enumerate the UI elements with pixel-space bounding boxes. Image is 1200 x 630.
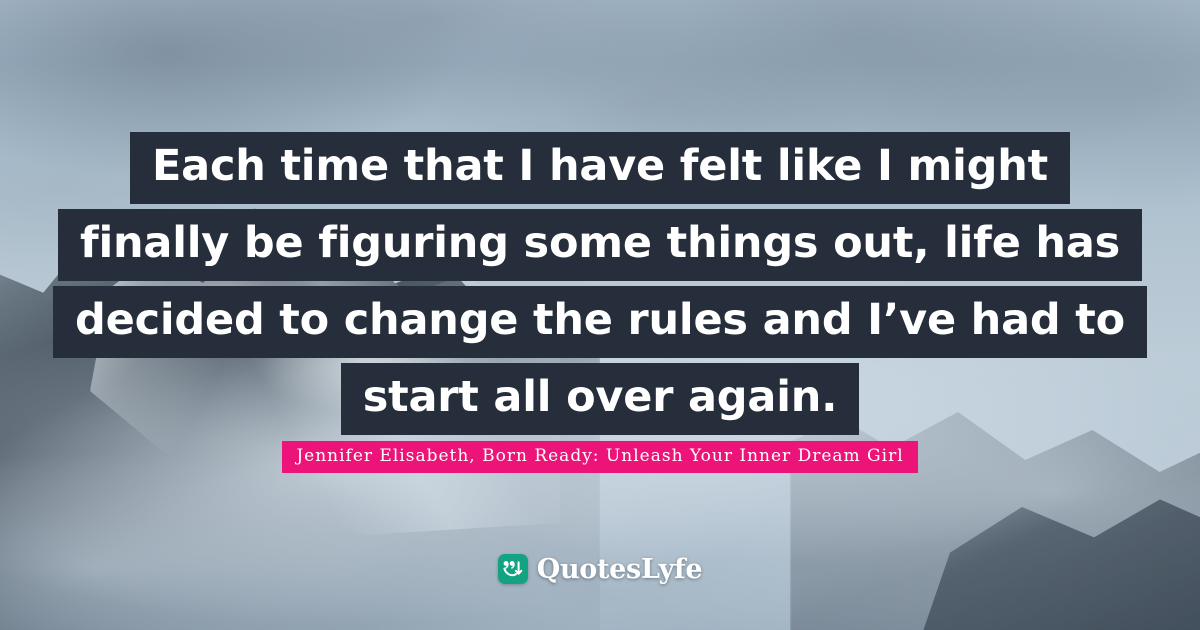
quote-line: decided to change the rules and I’ve had… [53,286,1147,358]
quote-text: Each time that I have felt like I might … [0,132,1200,440]
attribution-label: Jennifer Elisabeth, Born Ready: Unleash … [282,441,917,473]
quote-smiley-icon [498,554,528,584]
quote-line: Each time that I have felt like I might [130,132,1070,204]
quote-card: Each time that I have felt like I might … [0,0,1200,630]
card-content: Each time that I have felt like I might … [0,0,1200,630]
quote-line: start all over again. [341,363,860,435]
attribution-row: Jennifer Elisabeth, Born Ready: Unleash … [0,441,1200,473]
quote-line: finally be figuring some things out, lif… [58,209,1142,281]
brand-name: QuotesLyfe [537,556,703,583]
brand-logo: QuotesLyfe [0,554,1200,584]
